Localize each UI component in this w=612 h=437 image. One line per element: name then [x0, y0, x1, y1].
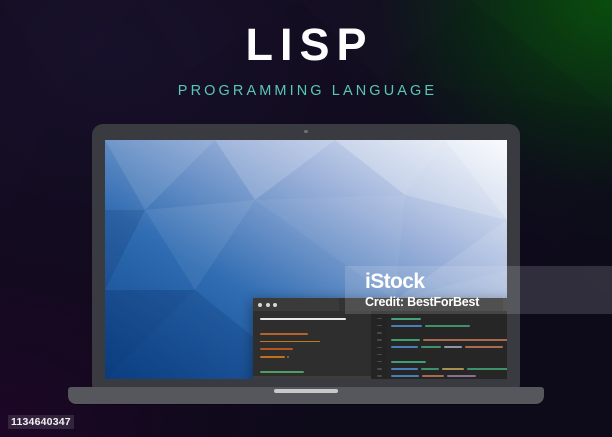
sidebar-item-label — [260, 364, 263, 366]
sidebar-item[interactable] — [253, 361, 371, 369]
sidebar-item[interactable] — [253, 323, 371, 331]
istock-watermark: iStock ™ Credit: BestForBest — [345, 266, 612, 314]
laptop-illustration — [0, 0, 612, 437]
code-token — [422, 375, 444, 377]
laptop-lid — [92, 124, 520, 389]
minimize-icon[interactable] — [266, 303, 270, 307]
code-token — [391, 325, 422, 327]
code-token — [391, 318, 421, 320]
sidebar-item[interactable] — [253, 330, 371, 338]
code-line[interactable] — [391, 373, 507, 380]
line-number-glyph — [377, 347, 382, 348]
code-line[interactable] — [391, 351, 507, 358]
sidebar-item-label — [260, 341, 320, 343]
line-number — [371, 329, 387, 336]
sidebar-item[interactable] — [253, 345, 371, 353]
line-number-glyph — [377, 339, 382, 340]
line-number — [371, 337, 387, 344]
sidebar-item-label — [260, 318, 346, 320]
image-id-label: 1134640347 — [8, 415, 74, 429]
istock-logo-text: iStock — [365, 270, 424, 293]
code-token — [391, 339, 420, 341]
sidebar-item-label — [260, 371, 304, 373]
code-token — [391, 346, 418, 348]
code-pane[interactable] — [371, 311, 507, 379]
code-content[interactable] — [387, 311, 507, 379]
code-token — [391, 361, 426, 363]
close-icon[interactable] — [258, 303, 262, 307]
line-number — [371, 315, 387, 322]
sidebar-item[interactable] — [253, 368, 371, 376]
editor-body — [253, 311, 507, 379]
file-tree-sidebar[interactable] — [253, 311, 371, 379]
line-number-glyph — [377, 368, 382, 369]
line-number-glyph — [377, 361, 382, 362]
code-token — [467, 368, 507, 370]
code-token — [391, 375, 419, 377]
laptop-base-notch — [274, 389, 338, 393]
code-token — [442, 368, 464, 370]
code-line[interactable] — [391, 322, 507, 329]
line-number — [371, 351, 387, 358]
line-number-gutter — [371, 311, 387, 379]
code-line[interactable] — [391, 344, 507, 351]
sidebar-item[interactable] — [253, 353, 371, 361]
line-number-glyph — [377, 318, 382, 319]
code-line[interactable] — [391, 315, 507, 322]
line-number-glyph — [377, 325, 382, 326]
laptop-base — [68, 387, 544, 404]
code-token — [425, 325, 470, 327]
code-line[interactable] — [391, 365, 507, 372]
webcam-icon — [304, 130, 307, 133]
sidebar-item-label — [260, 348, 293, 350]
line-number — [371, 365, 387, 372]
line-number — [371, 358, 387, 365]
line-number-glyph — [377, 375, 382, 376]
sidebar-item-label — [260, 326, 263, 328]
code-token — [421, 368, 439, 370]
sidebar-item-selected[interactable] — [253, 376, 371, 379]
istock-credit: Credit: BestForBest — [365, 296, 612, 309]
laptop-screen — [105, 140, 507, 379]
line-number — [371, 322, 387, 329]
line-number — [371, 373, 387, 380]
istock-logo: iStock ™ — [365, 271, 612, 292]
line-number-glyph — [377, 354, 382, 355]
code-token — [421, 346, 441, 348]
sidebar-item[interactable] — [253, 338, 371, 346]
sidebar-item-badge — [287, 356, 289, 358]
code-line[interactable] — [391, 358, 507, 365]
sidebar-item-label — [260, 356, 285, 358]
code-token — [391, 368, 418, 370]
maximize-icon[interactable] — [273, 303, 277, 307]
code-line[interactable] — [391, 337, 507, 344]
line-number-glyph — [377, 332, 382, 333]
sidebar-item[interactable] — [253, 315, 371, 323]
sidebar-item-label — [260, 333, 308, 335]
code-token — [465, 346, 503, 348]
line-number — [371, 344, 387, 351]
code-token — [444, 346, 462, 348]
code-token — [423, 339, 507, 341]
code-token — [447, 375, 476, 377]
code-line[interactable] — [391, 329, 507, 336]
